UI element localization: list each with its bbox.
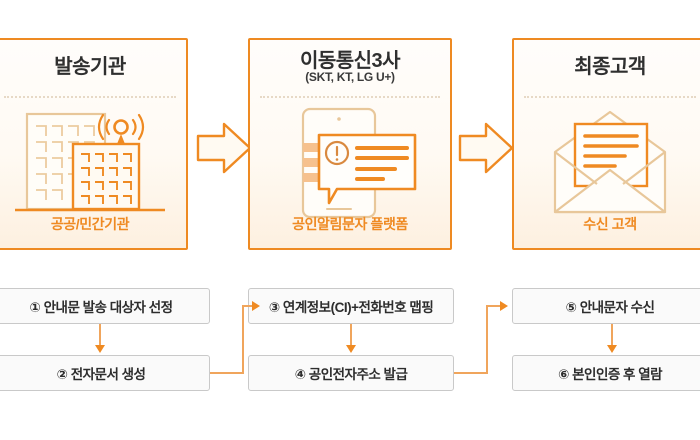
step-box-3[interactable]: ③ 연계정보(CI)+전화번호 맵핑 [248, 288, 454, 324]
panel-divider [4, 96, 176, 98]
panel-title: 최종고객 [514, 50, 700, 79]
step-box-5[interactable]: ⑤ 안내문자 수신 [512, 288, 700, 324]
arrow-sender-to-carrier [194, 120, 254, 176]
panel-illustration [250, 102, 450, 224]
panel-caption: 수신 고객 [514, 214, 700, 234]
panel-caption: 공공/민간기관 [0, 214, 186, 234]
panel-mobile-carriers: 이동통신3사 (SKT, KT, LG U+) [248, 38, 452, 250]
open-envelope-letter-icon [535, 104, 685, 222]
panel-divider [260, 96, 440, 98]
buildings-antenna-icon [5, 104, 175, 222]
panel-caption: 공인알림문자 플랫폼 [250, 214, 450, 234]
panel-sender-agency: 발송기관 [0, 38, 188, 250]
panel-illustration [0, 102, 186, 224]
step-box-6[interactable]: ⑥ 본인인증 후 열람 [512, 355, 700, 391]
step-box-4[interactable]: ④ 공인전자주소 발급 [248, 355, 454, 391]
panel-subtitle: (SKT, KT, LG U+) [250, 70, 450, 84]
step-box-1[interactable]: ① 안내문 발송 대상자 선정 [0, 288, 210, 324]
smartphone-message-bubble-icon [275, 103, 425, 223]
panel-end-customer: 최종고객 수신 고객 [512, 38, 700, 250]
arrow-carrier-to-customer [456, 120, 516, 176]
diagram-canvas: 발송기관 [0, 0, 700, 440]
panel-title: 이동통신3사 [250, 44, 450, 73]
panel-title: 발송기관 [0, 50, 186, 79]
step-box-2[interactable]: ② 전자문서 생성 [0, 355, 210, 391]
panel-divider [524, 96, 696, 98]
panel-illustration [514, 102, 700, 224]
